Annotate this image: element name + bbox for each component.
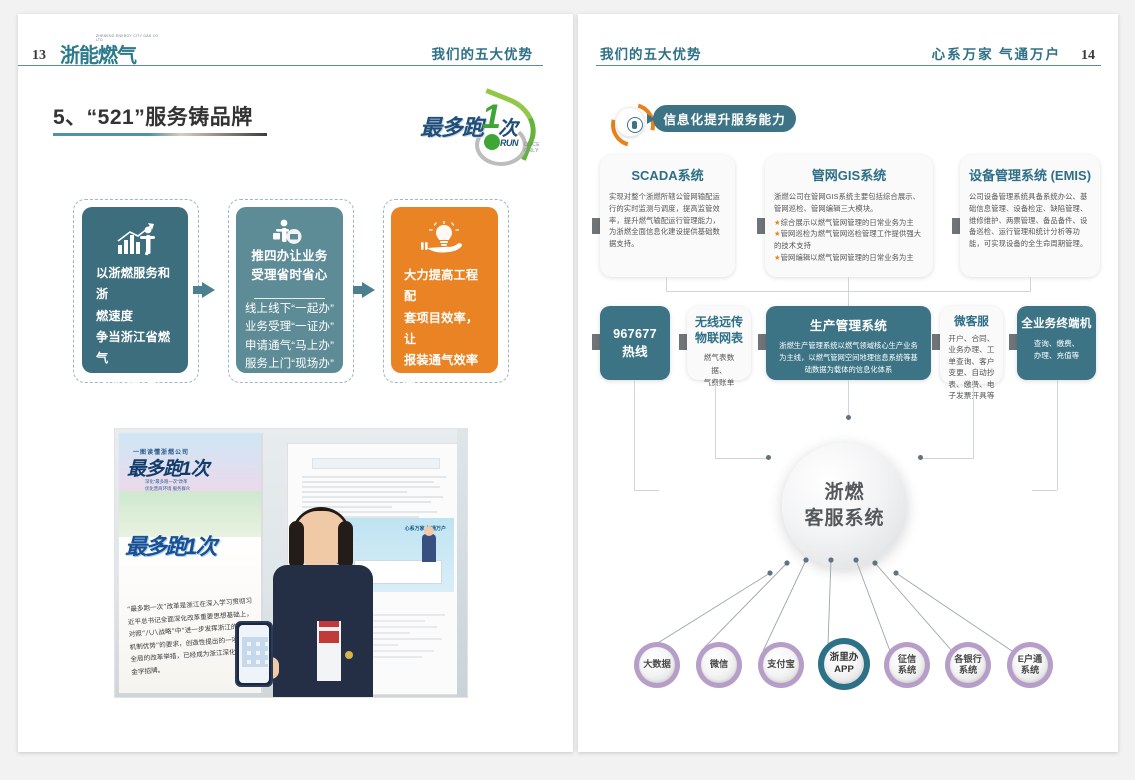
hotline-box[interactable]: 967677 热线 bbox=[600, 306, 670, 380]
terminal-text: 查询、缴费、 办理、充值等 bbox=[1027, 338, 1086, 363]
right-page-header: 我们的五大优势 心系万家 气通万户 14 bbox=[596, 36, 1101, 66]
node-credit[interactable]: 征信 系统 bbox=[884, 642, 930, 688]
growth-chart-person-icon bbox=[82, 223, 188, 257]
card-2[interactable]: 推四办让业务 受理省时省心 线上线下“一起办” 业务受理“一证办” 申请通气“马… bbox=[236, 207, 343, 373]
section-underline bbox=[53, 133, 267, 136]
conn-wireless-down bbox=[715, 380, 716, 458]
scada-text: 实现对整个浙燃所辖公管网输配运行的实时监测与调度，提高监管效率，提升燃气输配运行… bbox=[609, 191, 726, 250]
spread-page: 13 浙能燃气 ZHENENG ENERGY CITY GAS CO. LTD … bbox=[0, 0, 1135, 780]
badge-ring-inner bbox=[615, 107, 645, 137]
node-alipay[interactable]: 支付宝 bbox=[758, 642, 804, 688]
wechat-title: 微客服 bbox=[940, 313, 1003, 329]
dot-wechat bbox=[918, 455, 923, 460]
node-ehutong[interactable]: E户通 系统 bbox=[1007, 642, 1053, 688]
node-zhelib-label: 浙里办 APP bbox=[824, 644, 864, 684]
logo-chinese: 浙能燃气 bbox=[60, 45, 136, 65]
gis-text: 浙燃公司在管网GIS系统主要包括综合展示、管网巡检、管网编辑三大模块。 bbox=[774, 191, 924, 215]
radar-touch-icon bbox=[627, 117, 643, 133]
card-1-line-4: 行业领跑者 bbox=[96, 370, 178, 391]
emis-title: 设备管理系统 (EMIS) bbox=[960, 165, 1100, 184]
photo-right-panel bbox=[457, 429, 467, 697]
banner-big-text: 最多跑1次 bbox=[125, 537, 215, 558]
terminal-title: 全业务终端机 bbox=[1017, 315, 1096, 331]
scada-title: SCADA系统 bbox=[600, 165, 735, 184]
node-alipay-label: 支付宝 bbox=[763, 647, 799, 683]
conn-bus-to-production bbox=[848, 291, 849, 307]
wireless-meter-box[interactable]: 无线远传 物联网表 燃气表数据、 气费账单 bbox=[687, 306, 751, 380]
node-bigdata-label: 大数据 bbox=[639, 647, 675, 683]
run-logo-text: 最多跑 bbox=[420, 110, 483, 142]
wechat-service-box[interactable]: 微客服 开户、合同、业务办理、工单查询、客户变更、自动抄表、缴费、电子发票开具等 bbox=[940, 306, 1003, 384]
card-2-item-1: 线上线下“一起办” bbox=[242, 300, 337, 318]
card-1[interactable]: 以浙燃服务和浙 燃速度 争当浙江省燃气 行业领跑者 bbox=[82, 207, 188, 373]
emis-text: 公司设备管理系统具备系统办公、基础信息管理、设备检定、缺陷管理、维修维护、两票管… bbox=[969, 191, 1091, 250]
bulb-hand-icon bbox=[391, 221, 498, 255]
card-1-line-2: 燃速度 bbox=[96, 306, 178, 327]
card-3[interactable]: 大力提高工程配 套项目效率，让 报装通气效率更 高，着力优化营 商环境 bbox=[391, 207, 498, 373]
conn-wechat-in bbox=[920, 458, 974, 459]
conn-terminal-in bbox=[1032, 490, 1057, 491]
conn-scada-down bbox=[666, 277, 667, 291]
header-rule bbox=[596, 65, 1101, 66]
node-banks-label: 各银行 系统 bbox=[950, 647, 986, 683]
conn-wireless-in bbox=[715, 458, 769, 459]
banner-illustration-strip bbox=[119, 491, 261, 537]
wireless-meter-title: 无线远传 物联网表 bbox=[687, 314, 751, 346]
card-2-item-3: 申请通气“马上办” bbox=[242, 337, 337, 355]
conn-hotline-in bbox=[634, 490, 659, 491]
dot-wireless bbox=[766, 455, 771, 460]
banner-title: 最多跑1次 bbox=[127, 454, 209, 481]
conn-gis-down bbox=[848, 277, 849, 291]
logo-english: ZHENENG ENERGY CITY GAS CO. LTD bbox=[96, 34, 166, 43]
gis-bullet-3: ★管网编辑以燃气管网管理的日常业务为主 bbox=[774, 252, 924, 264]
gis-bullet-2: ★管网巡检为燃气管网巡检管理工作提供强大的技术支持 bbox=[774, 228, 924, 252]
arrow-2-tail bbox=[353, 286, 362, 294]
section-title: 5、“521”服务铸品牌 bbox=[53, 101, 253, 131]
company-logo: 浙能燃气 ZHENENG ENERGY CITY GAS CO. LTD bbox=[60, 35, 170, 65]
node-bigdata[interactable]: 大数据 bbox=[634, 642, 680, 688]
conn-emis-down bbox=[1030, 277, 1031, 291]
production-title: 生产管理系统 bbox=[766, 315, 931, 334]
person-suit bbox=[273, 565, 373, 697]
conn-hotline-down bbox=[634, 380, 635, 490]
conn-terminal-down bbox=[1057, 380, 1058, 490]
info-capability-badge: 信息化提升服务能力 bbox=[611, 105, 796, 134]
core-line-1: 浙燃 bbox=[824, 482, 864, 503]
gis-bullet-1: ★综合展示以燃气管网管理的日常业务为主 bbox=[774, 217, 924, 229]
right-page-number: 14 bbox=[1081, 48, 1095, 64]
board-caption bbox=[312, 458, 440, 469]
photo-person bbox=[265, 511, 381, 697]
left-header-title: 我们的五大优势 bbox=[432, 43, 534, 63]
production-system-box[interactable]: 生产管理系统 浙燃生产管理系统以燃气领域核心生产业务为主线，以燃气管网空间地理信… bbox=[766, 306, 931, 380]
node-wechat[interactable]: 微信 bbox=[696, 642, 742, 688]
node-credit-label: 征信 系统 bbox=[889, 647, 925, 683]
left-page-header: 13 浙能燃气 ZHENENG ENERGY CITY GAS CO. LTD … bbox=[18, 36, 543, 66]
run-logo-en2: ONCE ONLY bbox=[524, 142, 545, 154]
scada-system-box[interactable]: SCADA系统 实现对整个浙燃所辖公管网输配运行的实时监测与调度，提高监管效率，… bbox=[600, 155, 735, 277]
wechat-text: 开户、合同、业务办理、工单查询、客户变更、自动抄表、缴费、电子发票开具等 bbox=[945, 333, 998, 401]
arrow-1-to-2 bbox=[202, 282, 215, 298]
production-text: 浙燃生产管理系统以燃气领域核心生产业务为主线，以燃气管网空间地理信息系统等基础数… bbox=[776, 340, 921, 375]
gis-title: 管网GIS系统 bbox=[765, 165, 933, 184]
arrow-2-to-3 bbox=[362, 282, 375, 298]
node-zhelib[interactable]: 浙里办 APP bbox=[818, 638, 870, 690]
core-line-2: 客服系统 bbox=[804, 508, 884, 529]
emis-system-box[interactable]: 设备管理系统 (EMIS) 公司设备管理系统具备系统办公、基础信息管理、设备检定… bbox=[960, 155, 1100, 277]
card-2-item-4: 服务上门“现场办” bbox=[242, 355, 337, 373]
run-once-logo: 最多跑 1 次 RUN ONCE ONLY bbox=[420, 98, 545, 160]
badge-label: 信息化提升服务能力 bbox=[653, 105, 796, 132]
card-1-line-3: 争当浙江省燃气 bbox=[96, 327, 178, 370]
gis-system-box[interactable]: 管网GIS系统 浙燃公司在管网GIS系统主要包括综合展示、管网巡检、管网编辑三大… bbox=[765, 155, 933, 277]
hotline-title: 967677 热线 bbox=[600, 325, 670, 362]
run-logo-ci: 次 bbox=[498, 112, 518, 141]
terminal-box[interactable]: 全业务终端机 查询、缴费、 办理、充值等 bbox=[1017, 306, 1096, 380]
card-2-item-2: 业务受理“一证办” bbox=[242, 318, 337, 336]
card-1-line-1: 以浙燃服务和浙 bbox=[96, 263, 178, 306]
card-3-line-3: 报装通气效率更 bbox=[404, 350, 489, 393]
wireless-meter-text: 燃气表数据、 气费账单 bbox=[696, 352, 742, 389]
card-2-title-line-1: 推四办让业务 bbox=[244, 247, 335, 266]
card-3-line-2: 套项目效率，让 bbox=[404, 308, 489, 351]
photo-exhibition-staff: 心系万家 气通万户 一图读懂浙燃公司 最多跑1次 深化“最多跑一次”改革优化营商… bbox=[114, 428, 468, 698]
node-wechat-label: 微信 bbox=[701, 647, 737, 683]
conn-production-down bbox=[848, 380, 849, 418]
arrow-1-tail bbox=[193, 286, 202, 294]
card-2-title-line-2: 受理省时省心 bbox=[244, 266, 335, 285]
left-page-number: 13 bbox=[32, 48, 46, 64]
dot-production bbox=[846, 415, 851, 420]
right-header-title-left: 我们的五大优势 bbox=[600, 43, 702, 63]
node-banks[interactable]: 各银行 系统 bbox=[945, 642, 991, 688]
card-3-line-1: 大力提高工程配 bbox=[404, 265, 489, 308]
run-logo-en: RUN bbox=[500, 138, 518, 148]
core-customer-service-system: 浙燃 客服系统 bbox=[782, 443, 907, 568]
conn-wechat-down bbox=[973, 380, 974, 458]
person-phone bbox=[235, 621, 273, 687]
service-person-icon bbox=[236, 218, 343, 246]
right-header-title-right: 心系万家 气通万户 bbox=[932, 43, 1061, 63]
node-ehutong-label: E户通 系统 bbox=[1012, 647, 1048, 683]
